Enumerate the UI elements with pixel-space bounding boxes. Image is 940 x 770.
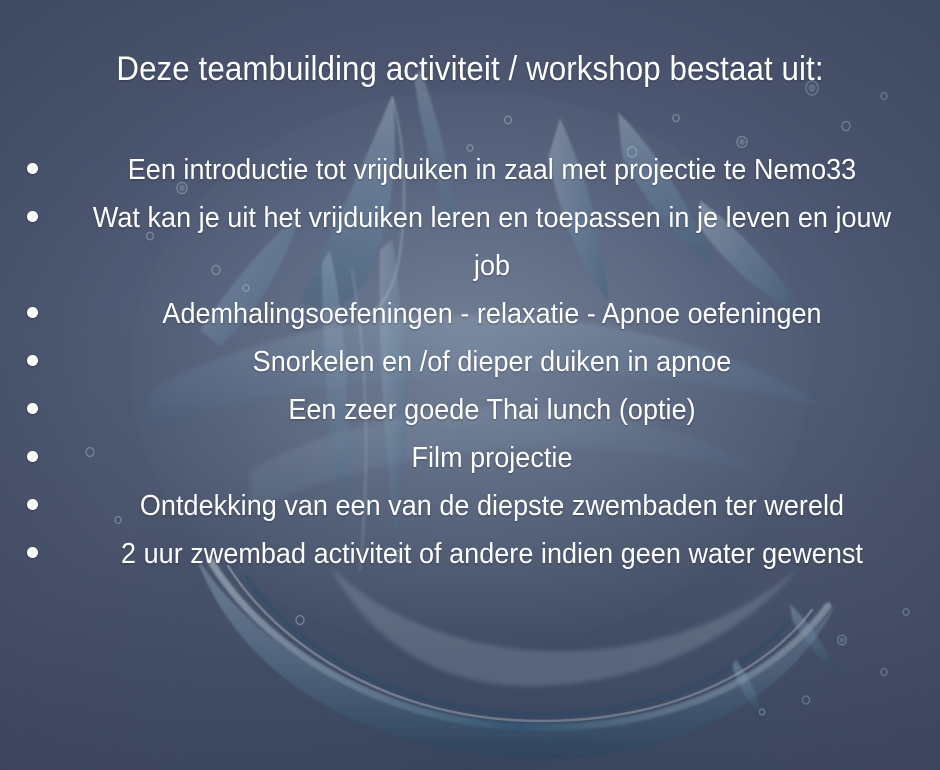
list-item-text: Ontdekking van een van de diepste zwemba…: [88, 482, 895, 530]
list-item: Een introductie tot vrijduiken in zaal m…: [0, 146, 940, 194]
slide-content: Deze teambuilding activiteit / workshop …: [0, 0, 940, 770]
bullet-point-icon: [27, 211, 38, 222]
list-item-text: Wat kan je uit het vrijduiken leren en t…: [88, 194, 895, 290]
bullet-point-icon: [27, 163, 38, 174]
activity-bullet-list: Een introductie tot vrijduiken in zaal m…: [0, 146, 940, 578]
presentation-slide: Deze teambuilding activiteit / workshop …: [0, 0, 940, 770]
list-item: Ademhalingsoefeningen - relaxatie - Apno…: [0, 290, 940, 338]
list-item-text: Ademhalingsoefeningen - relaxatie - Apno…: [88, 290, 895, 338]
list-item: 2 uur zwembad activiteit of andere indie…: [0, 530, 940, 578]
bullet-point-icon: [27, 499, 38, 510]
bullet-point-icon: [27, 355, 38, 366]
list-item: Snorkelen en /of dieper duiken in apnoe: [0, 338, 940, 386]
list-item-text: Een introductie tot vrijduiken in zaal m…: [88, 146, 895, 194]
list-item: Ontdekking van een van de diepste zwemba…: [0, 482, 940, 530]
bullet-point-icon: [27, 451, 38, 462]
slide-title: Deze teambuilding activiteit / workshop …: [38, 48, 903, 90]
list-item-text: 2 uur zwembad activiteit of andere indie…: [88, 530, 895, 578]
list-item: Film projectie: [0, 434, 940, 482]
list-item: Een zeer goede Thai lunch (optie): [0, 386, 940, 434]
list-item-text: Snorkelen en /of dieper duiken in apnoe: [88, 338, 895, 386]
list-item-text: Film projectie: [88, 434, 895, 482]
bullet-point-icon: [27, 547, 38, 558]
list-item: Wat kan je uit het vrijduiken leren en t…: [0, 194, 940, 290]
bullet-point-icon: [27, 403, 38, 414]
bullet-point-icon: [27, 307, 38, 318]
list-item-text: Een zeer goede Thai lunch (optie): [88, 386, 895, 434]
